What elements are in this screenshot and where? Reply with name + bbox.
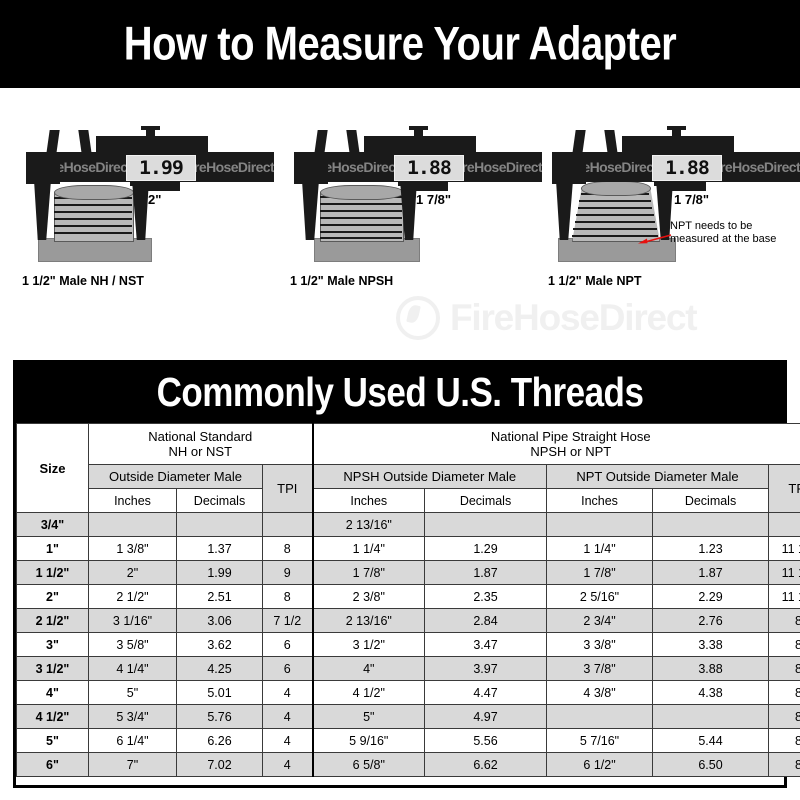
diagram-caption: 1 1/2" Male NH / NST	[22, 274, 144, 288]
col-npt-inches: Inches	[547, 489, 653, 513]
cell-nh-inches	[89, 513, 177, 537]
caliper-left-jaw-body	[552, 152, 586, 184]
measurement-label: 1 7/8"	[674, 192, 709, 207]
cell-npt-inches: 1 1/4"	[547, 537, 653, 561]
cell-size: 5"	[17, 729, 89, 753]
caliper-lock-screw	[664, 182, 706, 191]
cell-npt-inches	[547, 705, 653, 729]
cell-npsh-inches: 4 1/2"	[313, 681, 425, 705]
page-title: How to Measure Your Adapter	[124, 17, 677, 70]
cell-nh-tpi: 8	[263, 537, 313, 561]
cell-npsh-inches: 3 1/2"	[313, 633, 425, 657]
diagram-nh-nst: FireHoseDirect FireHoseDirect 1.99 2" 1 …	[8, 88, 276, 350]
cell-npsh-inches: 2 13/16"	[313, 513, 425, 537]
cell-nh-inches: 7"	[89, 753, 177, 777]
cell-nh-decimals: 1.37	[177, 537, 263, 561]
cell-npsh-inches: 5 9/16"	[313, 729, 425, 753]
cell-nh-inches: 6 1/4"	[89, 729, 177, 753]
group-national-pipe-straight-hose: National Pipe Straight Hose NPSH or NPT	[313, 424, 800, 465]
cell-npsh-decimals: 1.87	[425, 561, 547, 585]
cell-npt-tpi: 11 1/2	[769, 537, 800, 561]
page-title-banner: How to Measure Your Adapter	[0, 0, 800, 88]
table-header-row-groups: Size National Standard NH or NST Nationa…	[17, 424, 800, 465]
col-nh-tpi: TPI	[263, 465, 313, 513]
cell-npsh-decimals: 3.47	[425, 633, 547, 657]
cell-size: 1"	[17, 537, 89, 561]
caliper-lcd-display: 1.88	[394, 155, 464, 181]
diagram-npsh: FireHoseDirect FireHoseDirect 1.88 1 7/8…	[276, 88, 544, 350]
cell-npt-decimals: 1.87	[653, 561, 769, 585]
cell-npt-decimals: 5.44	[653, 729, 769, 753]
threads-table-body: 3/4"2 13/16"1"1 3/8"1.3781 1/4"1.291 1/4…	[17, 513, 800, 777]
col-npsh-outside-diameter-male: NPSH Outside Diameter Male	[313, 465, 547, 489]
col-nh-outside-diameter-male: Outside Diameter Male	[89, 465, 263, 489]
table-row: 3 1/2"4 1/4"4.2564"3.973 7/8"3.888	[17, 657, 800, 681]
cell-nh-decimals: 6.26	[177, 729, 263, 753]
cell-npsh-decimals: 4.97	[425, 705, 547, 729]
cell-nh-tpi: 4	[263, 681, 313, 705]
table-row: 6"7"7.0246 5/8"6.626 1/2"6.508	[17, 753, 800, 777]
cell-nh-decimals: 2.51	[177, 585, 263, 609]
cell-nh-tpi: 4	[263, 729, 313, 753]
cell-nh-decimals: 3.62	[177, 633, 263, 657]
cell-npsh-decimals: 6.62	[425, 753, 547, 777]
table-header-row-subgroups: Outside Diameter Male TPI NPSH Outside D…	[17, 465, 800, 489]
cell-nh-decimals: 1.99	[177, 561, 263, 585]
cell-nh-tpi: 7 1/2	[263, 609, 313, 633]
col-npt-tpi: TPI	[769, 465, 800, 513]
cell-npsh-decimals: 1.29	[425, 537, 547, 561]
lcd-reading: 1.99	[139, 157, 183, 179]
caliper-upper-jaw-right	[78, 130, 91, 154]
cell-npt-decimals: 3.88	[653, 657, 769, 681]
cell-nh-decimals: 4.25	[177, 657, 263, 681]
caliper-upper-jaw-right	[604, 130, 617, 154]
caliper-lock-screw	[138, 182, 180, 191]
diagram-caption: 1 1/2" Male NPT	[548, 274, 641, 288]
caliper-illustration: FireHoseDirect FireHoseDirect 1.88 1 7/8…	[534, 124, 800, 264]
table-row: 3"3 5/8"3.6263 1/2"3.473 3/8"3.388	[17, 633, 800, 657]
cell-npt-decimals: 2.29	[653, 585, 769, 609]
cell-npt-inches: 4 3/8"	[547, 681, 653, 705]
npt-note-line-2: measured at the base	[670, 233, 776, 246]
cell-nh-inches: 2"	[89, 561, 177, 585]
cell-npt-inches	[547, 513, 653, 537]
caliper-slider-top	[364, 136, 476, 153]
cell-npt-tpi: 8	[769, 729, 800, 753]
caliper-left-jaw-leg	[34, 180, 51, 240]
group-npsh-line-2: NPSH or NPT	[314, 444, 800, 459]
cell-npt-inches: 6 1/2"	[547, 753, 653, 777]
cell-nh-decimals: 7.02	[177, 753, 263, 777]
diagram-npt: FireHoseDirect FireHoseDirect 1.88 1 7/8…	[534, 88, 800, 350]
cell-nh-decimals: 5.01	[177, 681, 263, 705]
cell-npsh-inches: 2 3/8"	[313, 585, 425, 609]
cell-npsh-inches: 4"	[313, 657, 425, 681]
col-npsh-inches: Inches	[313, 489, 425, 513]
caliper-illustration: FireHoseDirect FireHoseDirect 1.88 1 7/8…	[276, 124, 544, 264]
cell-size: 1 1/2"	[17, 561, 89, 585]
caliper-slider-top	[96, 136, 208, 153]
cell-size: 3"	[17, 633, 89, 657]
cell-size: 4 1/2"	[17, 705, 89, 729]
cell-npt-inches: 3 3/8"	[547, 633, 653, 657]
cell-npt-tpi: 8	[769, 753, 800, 777]
lcd-reading: 1.88	[665, 157, 709, 179]
cell-nh-decimals: 3.06	[177, 609, 263, 633]
cell-nh-tpi: 4	[263, 753, 313, 777]
cell-size: 6"	[17, 753, 89, 777]
npt-note-line-1: NPT needs to be	[670, 220, 776, 233]
cell-nh-tpi: 9	[263, 561, 313, 585]
caliper-left-jaw-body	[26, 152, 60, 184]
caliper-upper-jaw-left	[46, 130, 59, 154]
caliper-left-jaw-body	[294, 152, 328, 184]
threads-table: Size National Standard NH or NST Nationa…	[16, 423, 800, 777]
cell-npsh-inches: 5"	[313, 705, 425, 729]
cell-nh-decimals	[177, 513, 263, 537]
cell-npt-decimals: 2.76	[653, 609, 769, 633]
cell-npt-decimals: 3.38	[653, 633, 769, 657]
cell-size: 2"	[17, 585, 89, 609]
cell-npsh-decimals: 5.56	[425, 729, 547, 753]
cell-nh-tpi: 6	[263, 633, 313, 657]
cell-nh-inches: 2 1/2"	[89, 585, 177, 609]
col-nh-decimals: Decimals	[177, 489, 263, 513]
cell-npt-decimals: 6.50	[653, 753, 769, 777]
npt-note-arrow-icon	[638, 234, 672, 244]
caliper-upper-jaw-left	[314, 130, 327, 154]
cell-npt-inches: 2 5/16"	[547, 585, 653, 609]
caliper-upper-jaw-left	[572, 130, 585, 154]
cell-npt-tpi: 11 1/2	[769, 561, 800, 585]
caliper-slider-top	[622, 136, 734, 153]
table-row: 2 1/2"3 1/16"3.067 1/22 13/16"2.842 3/4"…	[17, 609, 800, 633]
cell-npt-tpi: 8	[769, 657, 800, 681]
col-npsh-decimals: Decimals	[425, 489, 547, 513]
cell-nh-inches: 5"	[89, 681, 177, 705]
col-npt-decimals: Decimals	[653, 489, 769, 513]
cell-npsh-inches: 2 13/16"	[313, 609, 425, 633]
cell-size: 3/4"	[17, 513, 89, 537]
cell-npt-tpi: 8	[769, 705, 800, 729]
cell-nh-inches: 5 3/4"	[89, 705, 177, 729]
table-row: 1 1/2"2"1.9991 7/8"1.871 7/8"1.8711 1/2	[17, 561, 800, 585]
cell-npsh-decimals	[425, 513, 547, 537]
cell-npt-inches: 5 7/16"	[547, 729, 653, 753]
caliper-left-jaw-leg	[302, 180, 319, 240]
caliper-diagram-strip: FireHoseDirect FireHoseDirect 1.99 2" 1 …	[0, 88, 800, 350]
cell-npsh-decimals: 2.84	[425, 609, 547, 633]
cell-npt-tpi: 8	[769, 681, 800, 705]
cell-size: 3 1/2"	[17, 657, 89, 681]
table-row: 5"6 1/4"6.2645 9/16"5.565 7/16"5.448	[17, 729, 800, 753]
table-row: 3/4"2 13/16"	[17, 513, 800, 537]
cell-nh-inches: 1 3/8"	[89, 537, 177, 561]
caliper-upper-jaw-right	[346, 130, 359, 154]
cell-nh-tpi: 6	[263, 657, 313, 681]
cell-npt-tpi	[769, 513, 800, 537]
caliper-lcd-display: 1.88	[652, 155, 722, 181]
diagram-caption: 1 1/2" Male NPSH	[290, 274, 393, 288]
cell-size: 2 1/2"	[17, 609, 89, 633]
table-row: 4"5"5.0144 1/2"4.474 3/8"4.388	[17, 681, 800, 705]
lcd-reading: 1.88	[407, 157, 451, 179]
measurement-label: 1 7/8"	[416, 192, 451, 207]
caliper-illustration: FireHoseDirect FireHoseDirect 1.99 2"	[8, 124, 276, 264]
caliper-lcd-display: 1.99	[126, 155, 196, 181]
cell-npt-inches: 2 3/4"	[547, 609, 653, 633]
cell-npt-decimals	[653, 705, 769, 729]
table-row: 4 1/2"5 3/4"5.7645"4.978	[17, 705, 800, 729]
cell-nh-inches: 3 5/8"	[89, 633, 177, 657]
cell-size: 4"	[17, 681, 89, 705]
threads-title-bar: Commonly Used U.S. Threads	[16, 363, 784, 423]
threads-title: Commonly Used U.S. Threads	[157, 370, 644, 416]
group-national-standard: National Standard NH or NST	[89, 424, 313, 465]
cell-nh-inches: 4 1/4"	[89, 657, 177, 681]
group-nh-line-1: National Standard	[89, 429, 312, 444]
col-nh-inches: Inches	[89, 489, 177, 513]
cell-nh-inches: 3 1/16"	[89, 609, 177, 633]
table-row: 1"1 3/8"1.3781 1/4"1.291 1/4"1.2311 1/2	[17, 537, 800, 561]
caliper-lock-screw	[406, 182, 448, 191]
cell-npsh-decimals: 4.47	[425, 681, 547, 705]
cell-npt-decimals: 1.23	[653, 537, 769, 561]
table-row: 2"2 1/2"2.5182 3/8"2.352 5/16"2.2911 1/2	[17, 585, 800, 609]
threads-section: Commonly Used U.S. Threads Size National…	[13, 360, 787, 788]
cell-npt-tpi: 8	[769, 633, 800, 657]
cell-npt-inches: 3 7/8"	[547, 657, 653, 681]
col-size: Size	[17, 424, 89, 513]
cell-npsh-decimals: 3.97	[425, 657, 547, 681]
cell-npsh-inches: 1 7/8"	[313, 561, 425, 585]
cell-npt-decimals: 4.38	[653, 681, 769, 705]
measurement-label: 2"	[148, 192, 161, 207]
col-npt-outside-diameter-male: NPT Outside Diameter Male	[547, 465, 769, 489]
cell-npsh-decimals: 2.35	[425, 585, 547, 609]
cell-npt-tpi: 8	[769, 609, 800, 633]
npt-note: NPT needs to be measured at the base	[670, 220, 776, 246]
cell-nh-decimals: 5.76	[177, 705, 263, 729]
cell-npt-tpi: 11 1/2	[769, 585, 800, 609]
caliper-left-jaw-leg	[556, 180, 573, 240]
cell-npt-inches: 1 7/8"	[547, 561, 653, 585]
cell-nh-tpi	[263, 513, 313, 537]
cell-npt-decimals	[653, 513, 769, 537]
table-header-row-units: Inches Decimals Inches Decimals Inches D…	[17, 489, 800, 513]
group-npsh-line-1: National Pipe Straight Hose	[314, 429, 800, 444]
cell-nh-tpi: 8	[263, 585, 313, 609]
cell-npsh-inches: 6 5/8"	[313, 753, 425, 777]
cell-npsh-inches: 1 1/4"	[313, 537, 425, 561]
cell-nh-tpi: 4	[263, 705, 313, 729]
group-nh-line-2: NH or NST	[89, 444, 312, 459]
